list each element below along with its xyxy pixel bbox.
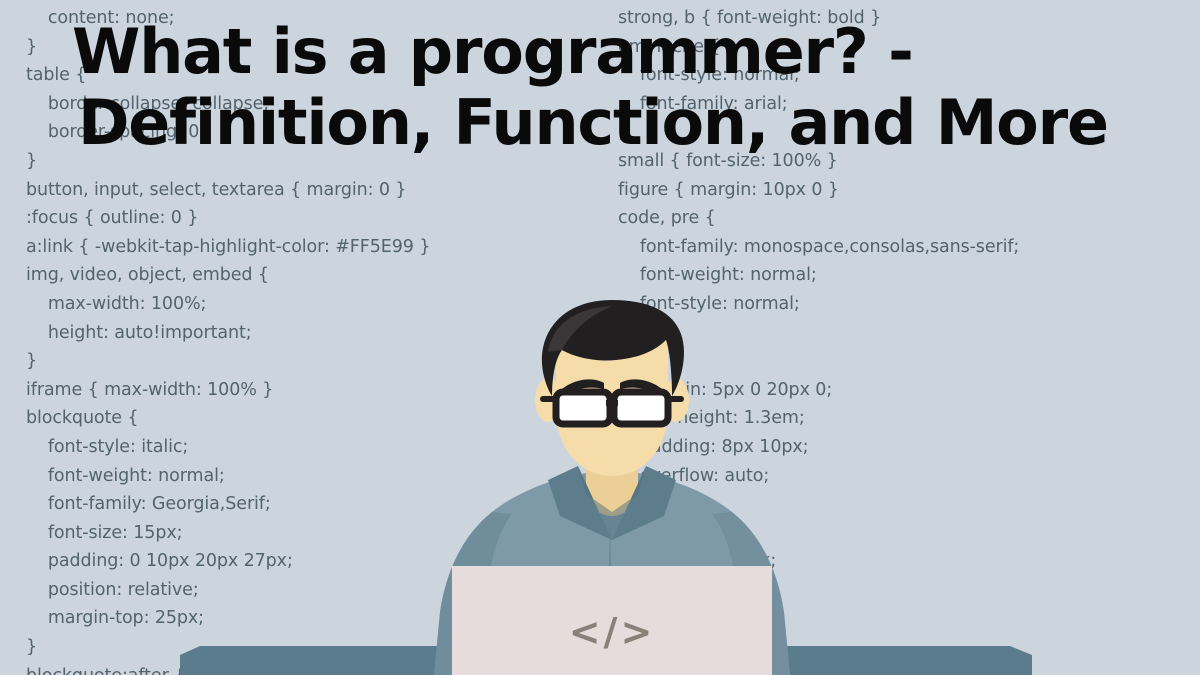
page-title-line-2: Definition, Function, and More [78,87,1172,158]
code-right-line: } [618,490,1019,519]
code-right-line: padding: 8px 10px; [618,433,1019,462]
code-right-line: figure { margin: 10px 0 } [618,176,1019,205]
code-left-line: iframe { max-width: 100% } [26,376,430,405]
page-title: What is a programmer? - Definition, Func… [72,16,1172,158]
code-left-line: a:link { -webkit-tap-highlight-color: #F… [26,233,430,262]
code-right-line: ul, ol { [618,519,1019,548]
code-left-line: margin-top: 25px; [26,604,430,633]
code-left-line: } [26,347,430,376]
code-left-line: img, video, object, embed { [26,261,430,290]
code-right-line: mark { [618,633,1019,662]
code-right-line: code, pre { [618,204,1019,233]
code-right-line: } [618,604,1019,633]
code-right-line: font-style: normal; [618,290,1019,319]
image-canvas: content: none;}table { border-collapse: … [0,0,1200,675]
code-left-line: font-weight: normal; [26,462,430,491]
code-left-line: max-width: 100%; [26,290,430,319]
code-left-line: button, input, select, textarea { margin… [26,176,430,205]
code-right-line: pre { [618,347,1019,376]
code-left-line: padding: 0 10px 20px 27px; [26,547,430,576]
code-right-line: line-height: 1.3em; [618,404,1019,433]
code-right-line: padding: 0 8px; [618,547,1019,576]
code-right-line: font-family: monospace,consolas,sans-ser… [618,233,1019,262]
code-right-line: } [618,319,1019,348]
code-right-line: font-weight: normal; [618,261,1019,290]
code-right-line: line-height: 1.5; [618,576,1019,605]
code-left-line: font-family: Georgia,Serif; [26,490,430,519]
code-right-line: padding: 1px 6px; [618,662,1019,675]
code-left-line: font-size: 15px; [26,519,430,548]
page-title-line-1: What is a programmer? - [72,16,1172,87]
code-left-line: blockquote:after { [26,662,430,675]
code-left-line: } [26,633,430,662]
code-left-line: font-style: italic; [26,433,430,462]
code-left-line: :focus { outline: 0 } [26,204,430,233]
code-left-line: height: auto!important; [26,319,430,348]
code-left-line: position: relative; [26,576,430,605]
code-left-line: blockquote { [26,404,430,433]
code-right-line: margin: 5px 0 20px 0; [618,376,1019,405]
code-right-line: overflow: auto; [618,462,1019,491]
